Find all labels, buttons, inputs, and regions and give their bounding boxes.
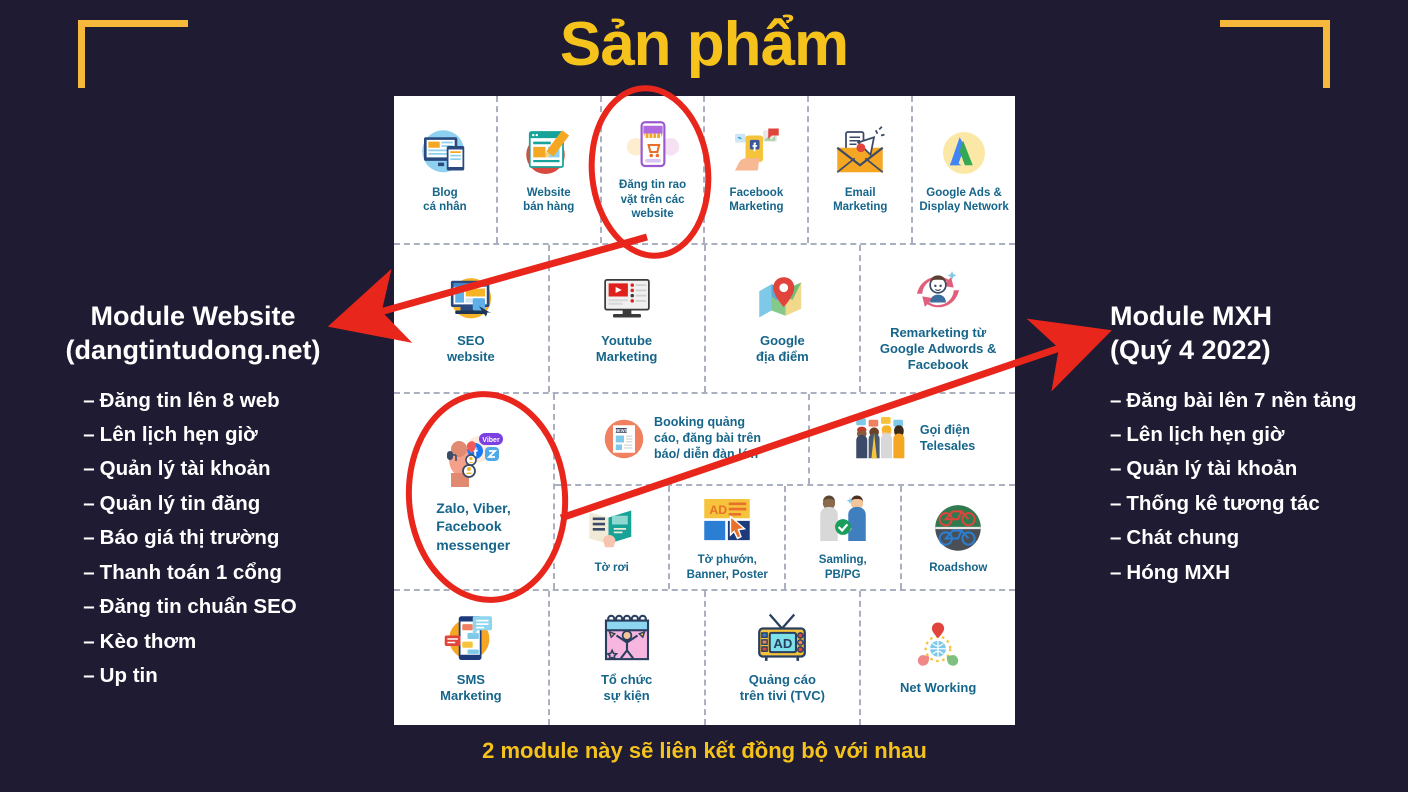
cell-to-roi[interactable]: Tờ rơi: [555, 486, 671, 589]
list-item: –Chát chung: [1110, 521, 1408, 555]
cell-dang-tin-rao-vat[interactable]: Đăng tin raovặt trên cácwebsite: [602, 96, 706, 243]
cell-label: Websitebán hàng: [523, 186, 574, 215]
list-item: –Lên lịch hẹn giờ: [83, 418, 296, 452]
banner-poster-icon: AD: [699, 492, 755, 548]
svg-text:NEWS: NEWS: [615, 428, 628, 433]
event-organizing-icon: [599, 611, 655, 667]
cell-to-phuon-banner-poster[interactable]: AD Tờ phướn,Banner, Poster: [670, 486, 786, 589]
cell-label: Zalo, Viber,Facebookmessenger: [436, 499, 510, 554]
news-booking-icon: NEWS: [602, 417, 646, 461]
flyer-icon: [584, 500, 640, 556]
list-item-label: Đăng tin chuẩn SEO: [100, 595, 297, 618]
email-marketing-icon: [832, 125, 888, 181]
cell-label: Gọi điệnTelesales: [920, 423, 975, 454]
cell-to-chuc-su-kien[interactable]: Tổ chứcsự kiện: [550, 591, 706, 725]
left-panel-title: Module Website(dangtintudong.net): [0, 300, 386, 368]
right-panel-list: –Đăng bài lên 7 nền tảng –Lên lịch hẹn g…: [1110, 384, 1408, 591]
grid-row-3: Viber: [394, 394, 1015, 591]
cell-website-ban-hang[interactable]: Websitebán hàng: [498, 96, 602, 243]
grid-row-3-top: NEWS Booking quảngcáo, đăng bài trênbáo/: [555, 394, 1015, 486]
cell-blog-ca-nhan[interactable]: Blogcá nhân: [394, 96, 498, 243]
list-item-label: Quản lý tin đăng: [100, 492, 261, 515]
cell-facebook-marketing[interactable]: FacebookMarketing: [705, 96, 809, 243]
grid-row-1: Blogcá nhân: [394, 96, 1015, 245]
roadshow-icon: [930, 500, 986, 556]
list-item: –Up tin: [83, 659, 296, 693]
sampling-icon: [815, 492, 871, 548]
list-item-label: Quản lý tài khoản: [1126, 457, 1297, 480]
right-panel-title: Module MXH(Quý 4 2022): [1110, 300, 1408, 368]
list-item: –Đăng bài lên 7 nền tảng: [1110, 384, 1408, 418]
blog-personal-icon: [417, 125, 473, 181]
cell-net-working[interactable]: Net Working: [861, 591, 1015, 725]
cell-label: Tờ phướn,Banner, Poster: [687, 553, 768, 582]
right-panel-module-mxh: Module MXH(Quý 4 2022) –Đăng bài lên 7 n…: [1110, 300, 1408, 590]
cell-label: SMSMarketing: [440, 672, 501, 705]
youtube-marketing-icon: [599, 272, 655, 328]
svg-text:Viber: Viber: [483, 437, 501, 444]
bottom-caption: 2 module này sẽ liên kết đồng bộ với nha…: [394, 738, 1015, 764]
list-item-label: Up tin: [100, 664, 158, 687]
cell-label: Remarketing từGoogle Adwords &Facebook: [880, 325, 997, 374]
seo-website-icon: [443, 272, 499, 328]
website-sales-icon: [521, 125, 577, 181]
tv-advertising-icon: AD: [754, 611, 810, 667]
remarketing-icon: [910, 264, 966, 320]
google-maps-icon: [754, 272, 810, 328]
list-item-label: Lên lịch hẹn giờ: [1126, 423, 1284, 446]
list-item-label: Đăng bài lên 7 nền tảng: [1126, 389, 1356, 412]
product-grid-card: Blogcá nhân: [394, 96, 1015, 725]
cell-label: EmailMarketing: [833, 186, 887, 215]
classified-posting-icon: [625, 117, 681, 173]
list-item-label: Lên lịch hẹn giờ: [100, 423, 258, 446]
facebook-marketing-icon: [728, 125, 784, 181]
google-ads-icon: [936, 125, 992, 181]
list-item: –Thống kê tương tác: [1110, 487, 1408, 521]
list-item-label: Thống kê tương tác: [1126, 492, 1319, 515]
list-item-label: Báo giá thị trường: [100, 526, 280, 549]
grid-row-3-right: NEWS Booking quảngcáo, đăng bài trênbáo/: [555, 394, 1015, 589]
cell-label: SEOwebsite: [447, 333, 495, 366]
cell-remarketing[interactable]: Remarketing từGoogle Adwords &Facebook: [861, 245, 1015, 392]
slide-canvas: Sản phẩm: [0, 0, 1408, 792]
cell-samling-pb-pg[interactable]: Samling,PB/PG: [786, 486, 902, 589]
grid-row-4: SMSMarketing: [394, 591, 1015, 725]
left-panel-module-website: Module Website(dangtintudong.net) –Đăng …: [0, 300, 386, 693]
list-item-label: Chát chung: [1126, 526, 1239, 549]
cell-label: Net Working: [900, 680, 976, 696]
messaging-apps-icon: Viber: [433, 429, 513, 493]
list-item: –Đăng tin chuẩn SEO: [83, 590, 296, 624]
cell-label: Tờ rơi: [595, 561, 629, 575]
sms-marketing-icon: [443, 611, 499, 667]
grid-row-2: SEOwebsite: [394, 245, 1015, 394]
cell-roadshow[interactable]: Roadshow: [902, 486, 1016, 589]
grid-row-3-bottom: Tờ rơi AD: [555, 486, 1015, 589]
cell-youtube-marketing[interactable]: YoutubeMarketing: [550, 245, 706, 392]
telesales-icon: [850, 417, 912, 461]
page-title: Sản phẩm: [0, 12, 1408, 77]
cell-label: Google Ads &Display Network: [919, 186, 1008, 215]
cell-quang-cao-tivi[interactable]: AD Quảng cáotrên tivi (TVC): [706, 591, 862, 725]
cell-label: Googleđịa điểm: [756, 333, 809, 366]
cell-label: FacebookMarketing: [729, 186, 783, 215]
list-item-label: Quản lý tài khoản: [100, 457, 271, 480]
cell-sms-marketing[interactable]: SMSMarketing: [394, 591, 550, 725]
cell-label: Quảng cáotrên tivi (TVC): [740, 672, 825, 705]
list-item-label: Đăng tin lên 8 web: [100, 389, 280, 412]
cell-email-marketing[interactable]: EmailMarketing: [809, 96, 913, 243]
cell-label: Roadshow: [929, 561, 987, 575]
svg-text:AD: AD: [774, 636, 793, 651]
svg-text:AD: AD: [710, 503, 728, 517]
cell-goi-dien-telesales[interactable]: Gọi điệnTelesales: [810, 394, 1015, 484]
cell-label: Samling,PB/PG: [819, 553, 867, 582]
networking-icon: [910, 619, 966, 675]
cell-google-dia-diem[interactable]: Googleđịa điểm: [706, 245, 862, 392]
list-item: –Hóng MXH: [1110, 556, 1408, 590]
cell-google-ads[interactable]: Google Ads &Display Network: [913, 96, 1015, 243]
cell-seo-website[interactable]: SEOwebsite: [394, 245, 550, 392]
cell-label: YoutubeMarketing: [596, 333, 657, 366]
cell-label: Blogcá nhân: [423, 186, 466, 215]
list-item: –Lên lịch hẹn giờ: [1110, 418, 1408, 452]
cell-booking-quang-cao[interactable]: NEWS Booking quảngcáo, đăng bài trênbáo/: [555, 394, 810, 484]
list-item: –Đăng tin lên 8 web: [83, 384, 296, 418]
list-item-label: Thanh toán 1 cổng: [100, 561, 282, 584]
list-item-label: Kèo thơm: [100, 630, 197, 653]
list-item: –Quản lý tài khoản: [83, 452, 296, 486]
list-item: –Quản lý tin đăng: [83, 487, 296, 521]
left-panel-list: –Đăng tin lên 8 web –Lên lịch hẹn giờ –Q…: [83, 384, 296, 694]
cell-label: Tổ chứcsự kiện: [601, 672, 652, 705]
list-item: –Báo giá thị trường: [83, 521, 296, 555]
list-item: –Thanh toán 1 cổng: [83, 556, 296, 590]
cell-zalo-viber-messenger[interactable]: Viber: [394, 394, 555, 589]
list-item: –Kèo thơm: [83, 625, 296, 659]
cell-label: Booking quảngcáo, đăng bài trênbáo/ diễn…: [654, 415, 761, 462]
list-item: –Quản lý tài khoản: [1110, 452, 1408, 486]
list-item-label: Hóng MXH: [1126, 561, 1230, 584]
cell-label: Đăng tin raovặt trên cácwebsite: [619, 178, 686, 221]
